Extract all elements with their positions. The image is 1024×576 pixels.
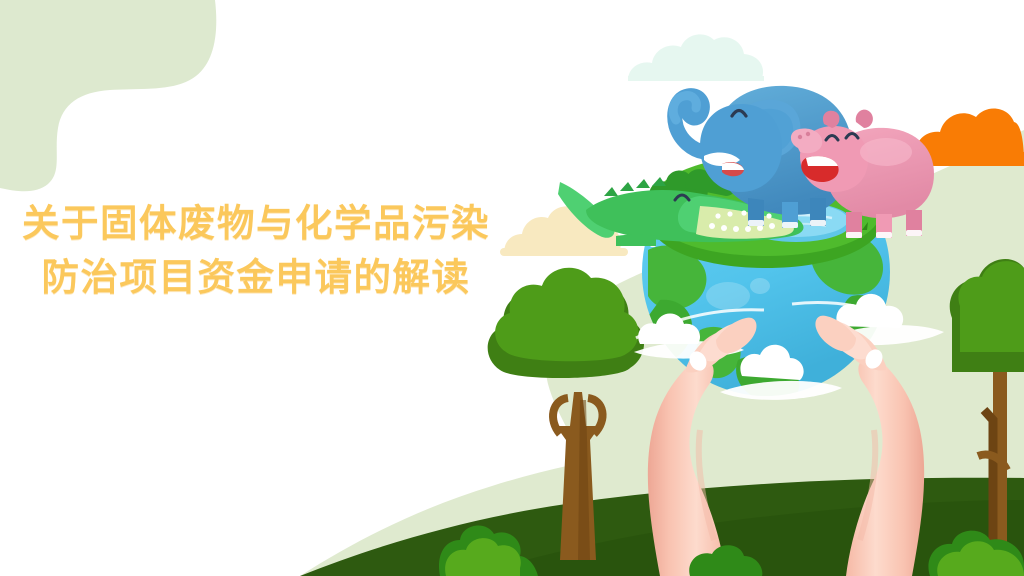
bush-left — [439, 525, 538, 576]
slide-title: 关于固体废物与化学品污染 防治项目资金申请的解读 — [0, 196, 512, 304]
bush-right — [928, 531, 1024, 576]
bush-center — [689, 545, 762, 576]
presentation-cover-slide: 关于固体废物与化学品污染 防治项目资金申请的解读 — [0, 0, 1024, 576]
title-line-1: 关于固体废物与化学品污染 — [0, 196, 512, 250]
title-line-2: 防治项目资金申请的解读 — [0, 250, 512, 304]
